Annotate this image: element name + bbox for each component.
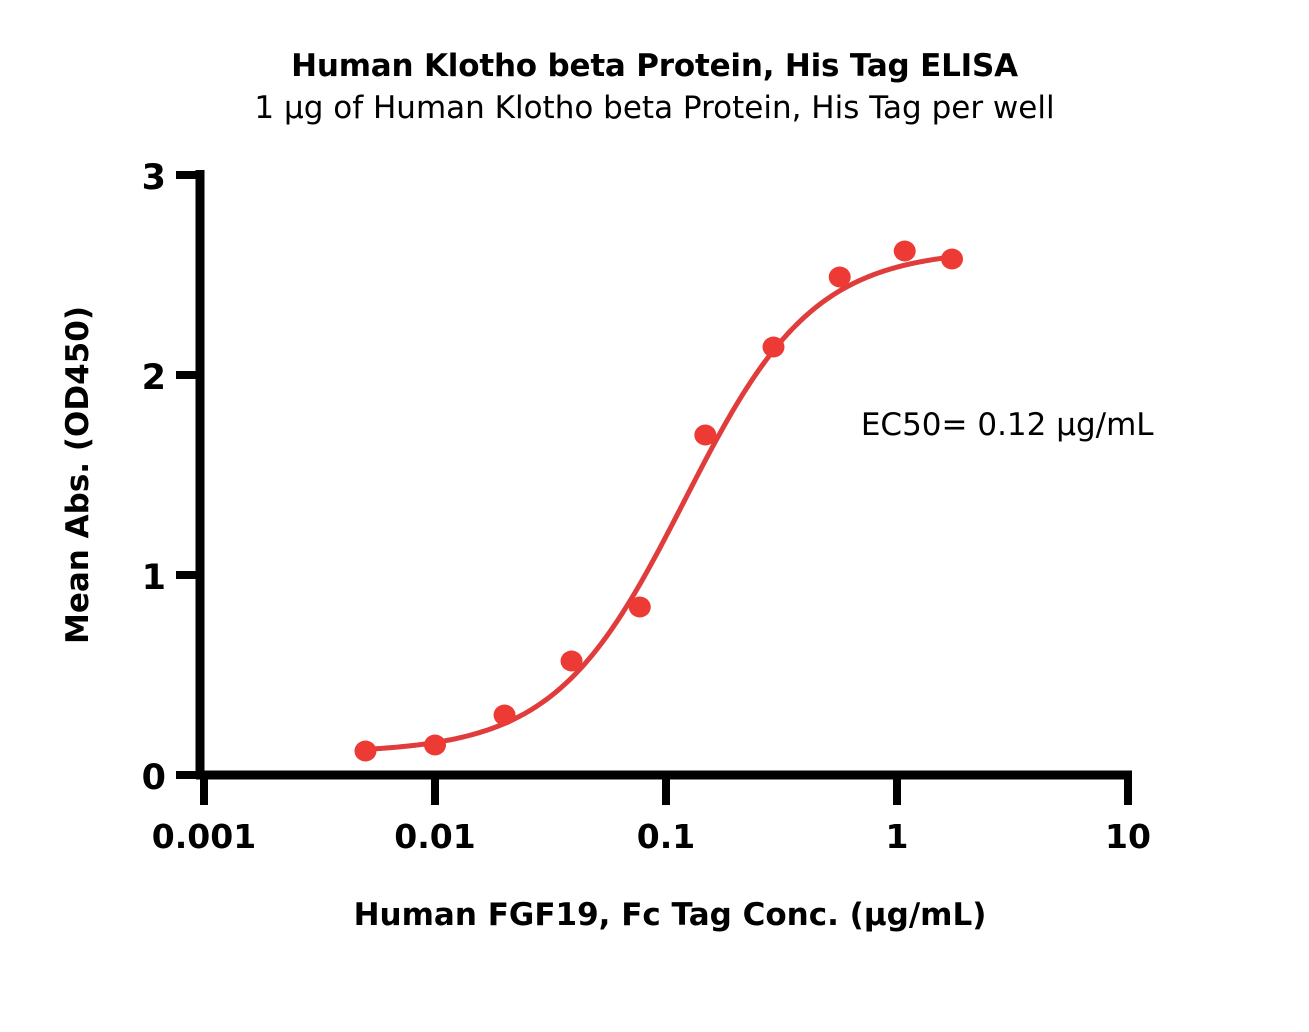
x-tick-label-0.1: 0.1: [637, 817, 695, 856]
x-axis-tick-labels: 0.001 0.01 0.1 1 10: [152, 817, 1151, 856]
y-axis-title: Mean Abs. (OD450): [60, 306, 96, 644]
x-tick-label-1: 1: [886, 817, 909, 856]
x-tick-label-0.01: 0.01: [394, 817, 475, 856]
ec50-annotation: EC50= 0.12 μg/mL: [861, 407, 1154, 443]
y-axis-tick-labels: 3 2 1 0: [142, 158, 166, 798]
data-point: [424, 735, 446, 756]
elisa-dose-response-plot: 3 2 1 0 0.001 0.01 0.1 1 10 Mean Abs. (O…: [0, 0, 1309, 1032]
data-point: [629, 597, 651, 618]
data-point: [694, 425, 716, 446]
data-point: [894, 241, 916, 262]
data-point: [561, 651, 583, 672]
data-point: [829, 267, 851, 288]
data-point: [354, 741, 376, 762]
y-tick-label-1: 1: [142, 558, 166, 598]
y-tick-label-2: 2: [142, 358, 166, 398]
data-point: [941, 249, 963, 270]
fit-curve: [365, 257, 952, 749]
x-tick-label-10: 10: [1105, 817, 1151, 856]
x-axis-title: Human FGF19, Fc Tag Conc. (μg/mL): [354, 897, 987, 933]
y-tick-label-0: 0: [142, 758, 166, 798]
axis-lines: [196, 170, 1132, 779]
data-point: [494, 705, 516, 726]
chart-figure: Human Klotho beta Protein, His Tag ELISA…: [0, 0, 1309, 1032]
x-tick-label-0.001: 0.001: [152, 817, 256, 856]
y-tick-label-3: 3: [142, 158, 166, 198]
data-point: [763, 337, 785, 358]
data-point-group: [354, 241, 963, 762]
